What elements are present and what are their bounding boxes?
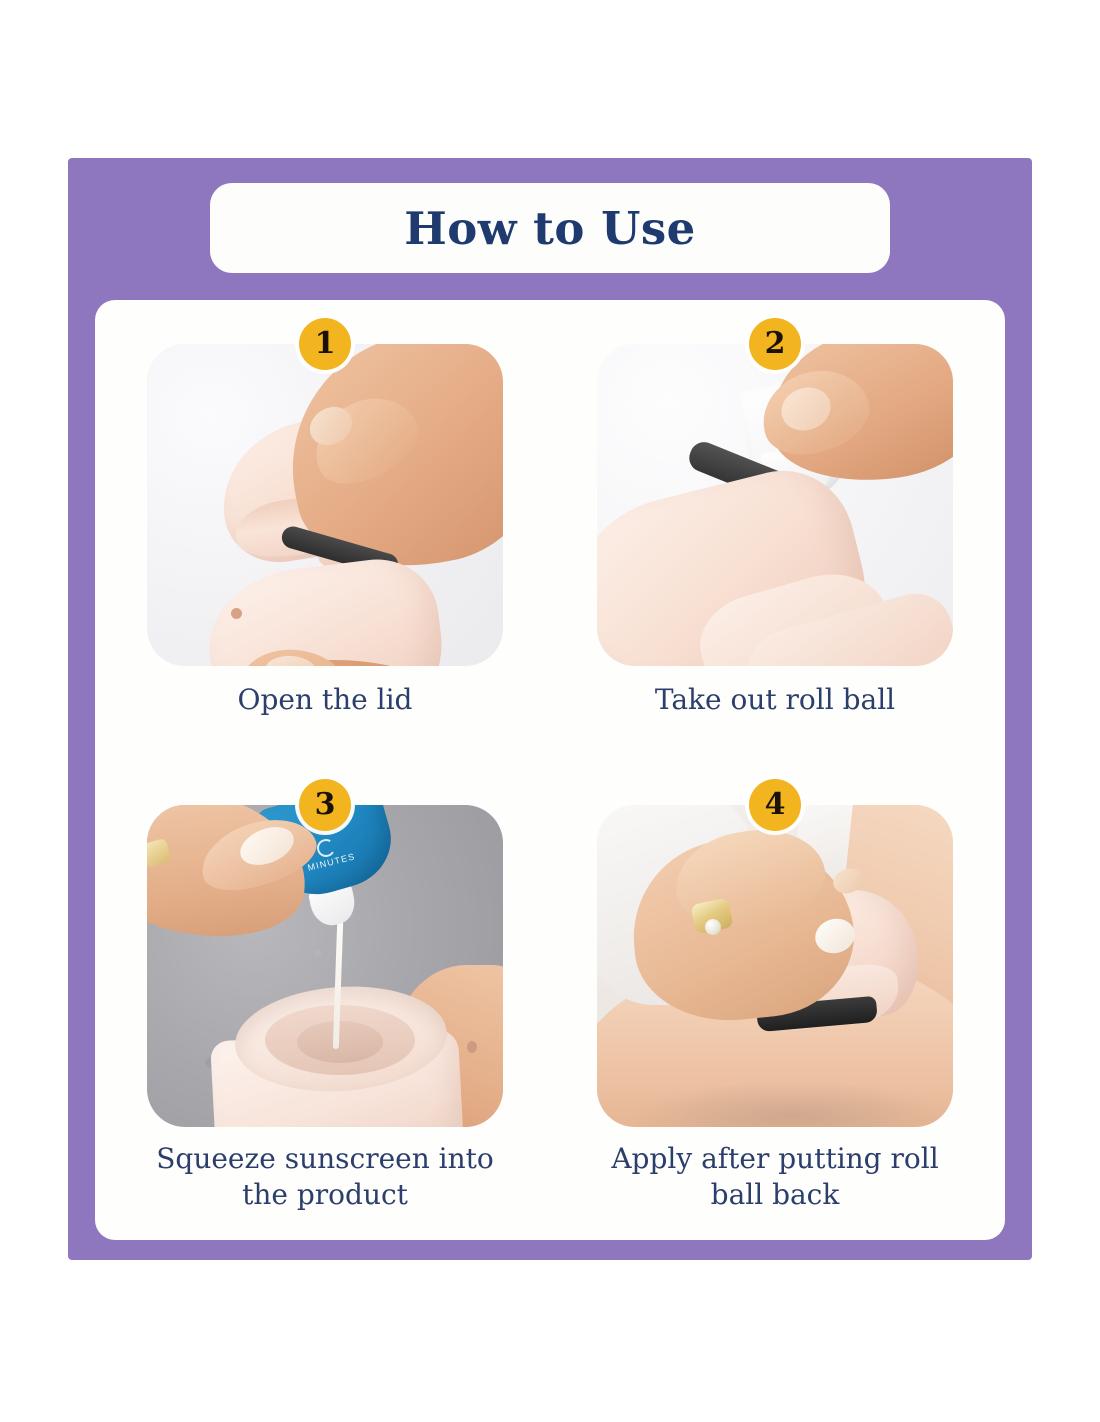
arm-shadow [627,1081,953,1127]
step-caption-2: Take out roll ball [605,682,945,718]
page-title: How to Use [404,202,696,255]
step-caption-4-line-1: Apply after putting roll [605,1141,945,1177]
step-badge-4: 4 [749,779,801,831]
scene-open-the-lid [147,344,503,666]
step-caption-3-line-2: the product [155,1177,495,1213]
step-badge-3: 3 [299,779,351,831]
scene-squeeze-sunscreen: MINUTES [147,805,503,1127]
product-side-hole [467,1041,477,1053]
step-badge-2: 2 [749,318,801,370]
applicator-side-hole [231,608,242,619]
step-1: 1 [111,318,539,769]
step-caption-3: Squeeze sunscreen into the product [155,1141,495,1213]
step-photo-3: MINUTES [147,805,503,1127]
steps-grid: 1 [95,300,1005,1240]
step-number-3: 3 [315,790,336,820]
scene-apply-to-arm [597,805,953,1127]
step-photo-4 [597,805,953,1127]
steps-card: 1 [95,300,1005,1240]
step-photo-2 [597,344,953,666]
scene-take-out-roll-ball [597,344,953,666]
step-number-2: 2 [765,329,786,359]
step-3: 3 [111,779,539,1230]
step-2: 2 [561,318,989,769]
step-4: 4 [561,779,989,1230]
step-caption-3-line-1: Squeeze sunscreen into [155,1141,495,1177]
product-core-opening [297,1021,383,1063]
step-number-1: 1 [315,329,336,359]
step-number-4: 4 [765,790,786,820]
title-pill: How to Use [210,183,890,273]
step-photo-1 [147,344,503,666]
step-caption-1: Open the lid [155,682,495,718]
purple-panel: How to Use 1 [68,158,1032,1260]
step-caption-4-line-2: ball back [605,1177,945,1213]
infographic-root: How to Use 1 [0,0,1100,1422]
step-badge-1: 1 [299,318,351,370]
step-caption-4: Apply after putting roll ball back [605,1141,945,1213]
